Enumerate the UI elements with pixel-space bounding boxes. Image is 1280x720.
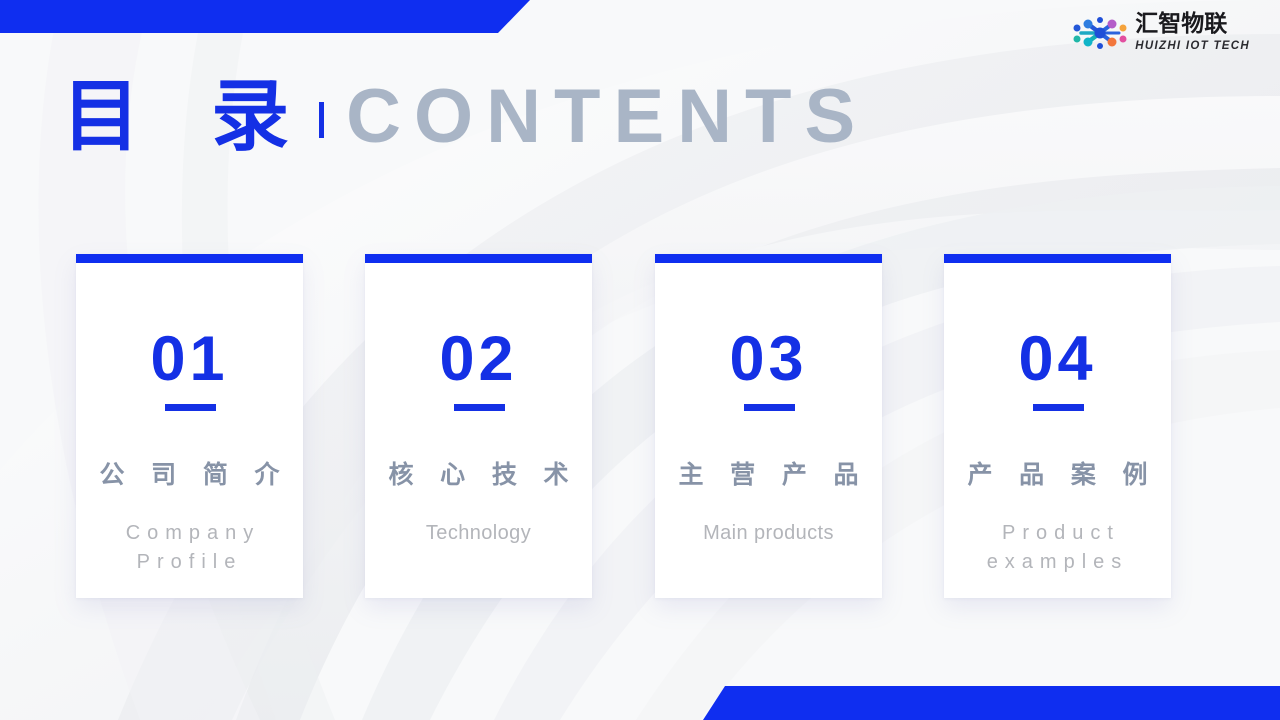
contents-card[interactable]: 04 产 品 案 例 Productexamples — [944, 254, 1171, 598]
card-label-cn: 核 心 技 术 — [365, 462, 592, 487]
card-underline-rule — [454, 404, 505, 411]
company-logo: 汇智物联 HUIZHI IOT TECH — [1071, 13, 1250, 53]
logo-company-name-cn: 汇智物联 — [1135, 13, 1250, 36]
contents-card[interactable]: 01 公 司 简 介 CompanyProfile — [76, 254, 303, 598]
card-top-accent-bar — [655, 254, 882, 263]
bottom-right-blue-banner — [703, 686, 1280, 720]
card-top-accent-bar — [944, 254, 1171, 263]
card-number: 02 — [365, 328, 592, 391]
card-label-en: Productexamples — [944, 519, 1171, 577]
card-number: 03 — [655, 328, 882, 391]
contents-card[interactable]: 03 主 营 产 品 Main products — [655, 254, 882, 598]
card-number: 04 — [944, 328, 1171, 391]
contents-card[interactable]: 02 核 心 技 术 Technology — [365, 254, 592, 598]
card-label-en: Main products — [655, 519, 882, 548]
page-title-en: CONTENTS — [346, 79, 868, 155]
page-title-cn: 目 录 — [62, 78, 311, 156]
contents-card-list: 01 公 司 简 介 CompanyProfile 02 核 心 技 术 Tec… — [0, 254, 1280, 604]
card-label-en: Technology — [365, 519, 592, 548]
card-top-accent-bar — [365, 254, 592, 263]
top-left-blue-banner — [0, 0, 530, 33]
card-label-cn: 产 品 案 例 — [944, 462, 1171, 487]
card-label-cn: 公 司 简 介 — [76, 462, 303, 487]
contents-slide: 汇智物联 HUIZHI IOT TECH 目 录 CONTENTS 01 公 司… — [0, 0, 1280, 720]
card-top-accent-bar — [76, 254, 303, 263]
card-label-en: CompanyProfile — [76, 519, 303, 577]
card-number: 01 — [76, 328, 303, 391]
card-underline-rule — [1033, 404, 1084, 411]
card-label-cn: 主 营 产 品 — [655, 462, 882, 487]
logo-company-name-en: HUIZHI IOT TECH — [1135, 41, 1250, 53]
page-title: 目 录 CONTENTS — [62, 78, 868, 156]
card-underline-rule — [165, 404, 216, 411]
card-underline-rule — [744, 404, 795, 411]
molecule-network-icon — [1071, 13, 1129, 53]
title-separator-bar — [319, 102, 324, 138]
